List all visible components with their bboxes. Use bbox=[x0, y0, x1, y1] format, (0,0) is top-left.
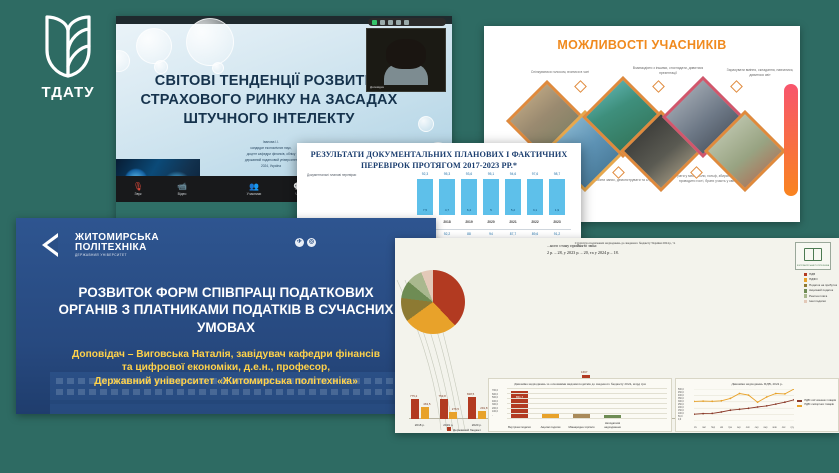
chart-bar: 98,71,92023 bbox=[549, 179, 565, 215]
chart-bars-row1: 92,37,5201795,34,7201893,66,4201995,1520… bbox=[417, 173, 565, 215]
zhp-speaker-info: Доповідач – Виговська Наталія, завідувач… bbox=[38, 348, 414, 388]
book-icon bbox=[804, 248, 822, 261]
meeting-window-controls[interactable] bbox=[368, 18, 446, 26]
budget-bar-pair: 753,8276,52019 р. bbox=[440, 399, 458, 419]
budget-bar-pair: 775,2463,52018 р. bbox=[411, 399, 429, 419]
record-indicator-icon bbox=[372, 20, 377, 25]
chart-bar: 93,66,42019 bbox=[461, 179, 477, 215]
tax-type-bar: 651,7Внутрішні податки bbox=[511, 391, 528, 419]
connector-node-icon bbox=[730, 80, 743, 93]
opportunities-title: МОЖЛИВОСТІ УЧАСНИКІВ bbox=[484, 38, 800, 52]
bar4-y-axis: 700,0600,0500,0400,0300,0200,0100,0- bbox=[492, 389, 498, 417]
pie-graphic bbox=[401, 270, 465, 334]
chart-bar: 95,152020 bbox=[483, 179, 499, 215]
camera-icon: 📹 bbox=[177, 183, 187, 191]
participant-face bbox=[393, 43, 419, 69]
close-icon[interactable] bbox=[404, 20, 409, 25]
gridline bbox=[507, 398, 667, 399]
bubble-decor-icon bbox=[116, 50, 130, 72]
budget-bar-pair: 828,5291,82020 р. bbox=[468, 397, 486, 419]
gridline bbox=[507, 413, 667, 414]
vat-line-chart: Динаміка надходжень ПДВ, 2024 р. 500,045… bbox=[675, 378, 839, 432]
bar4-bars: 651,7Внутрішні податки113,9Акцизні подат… bbox=[511, 391, 621, 419]
legend-line-import bbox=[797, 405, 802, 407]
participants-icon: 👥 bbox=[249, 183, 259, 191]
minimize-icon[interactable] bbox=[388, 20, 393, 25]
line-legend: ПДВ з вітчизняних товарів ПДВ з імпортни… bbox=[797, 399, 836, 408]
opportunity-caption: Спілкуватися голосом, вчитися в чаті bbox=[522, 70, 598, 75]
microphone-icon: 🎙 bbox=[133, 183, 143, 191]
connector-node-icon bbox=[612, 166, 625, 179]
instagram-icon[interactable]: ◎ bbox=[307, 238, 316, 247]
legend-swatch-state bbox=[447, 427, 451, 431]
zhp-title-slide[interactable]: ЖИТОМИРСЬКА ПОЛІТЕХНІКА ДЕРЖАВНИЙ УНІВЕР… bbox=[16, 218, 436, 414]
zhp-logo-line3: ДЕРЖАВНИЙ УНІВЕРСИТЕТ bbox=[75, 254, 159, 257]
gridline bbox=[507, 408, 667, 409]
chart-row1-label: Документальні планові перевірки bbox=[307, 173, 359, 178]
pie-title: Структура податкових надходжень до зведе… bbox=[395, 241, 839, 245]
legend-line-domestic bbox=[797, 400, 802, 402]
gridline bbox=[507, 418, 667, 419]
tdatu-logo-label: ТДАТУ bbox=[22, 84, 114, 101]
bubble-decor-icon bbox=[418, 116, 434, 132]
opportunity-caption: Зарахувати вміння, складання, навчатися,… bbox=[722, 68, 798, 78]
accent-gradient-bar bbox=[784, 84, 798, 196]
line-graphic bbox=[694, 389, 794, 421]
zhp-logo: ЖИТОМИРСЬКА ПОЛІТЕХНІКА ДЕРЖАВНИЙ УНІВЕР… bbox=[40, 232, 159, 258]
gridline bbox=[507, 403, 667, 404]
connector-node-icon bbox=[574, 80, 587, 93]
chart-bar: 94,65,22021 bbox=[505, 179, 521, 215]
tdatu-logo: ТДАТУ bbox=[22, 14, 114, 101]
opportunity-caption: Взаємодіяти з іншими, споглядати, дивити… bbox=[630, 66, 706, 76]
zhp-emblem-icon bbox=[40, 232, 70, 258]
zhp-social-icons[interactable]: ✈ ◎ bbox=[295, 238, 316, 247]
line-x-axis: січлютберквітрачерлипсервержовлисгру bbox=[694, 427, 794, 429]
toolbar-mute-button[interactable]: 🎙 Звук bbox=[116, 183, 160, 196]
chart-bar: 95,34,72018 bbox=[439, 179, 455, 215]
collage-stage: ТДАТУ СВІТОВІ ТЕНДЕНЦІЇ РОЗВИТКУ СТРАХОВ… bbox=[0, 0, 839, 473]
toolbar-participants-button[interactable]: 👥 Учасники bbox=[232, 183, 276, 196]
bar4-title: Динаміка надходжень за основними видами … bbox=[489, 382, 671, 387]
chart-title: РЕЗУЛЬТАТИ ДОКУМЕНТАЛЬНИХ ПЛАНОВИХ І ФАК… bbox=[297, 150, 581, 172]
tax-types-bar-chart: Динаміка надходжень за основними видами … bbox=[488, 378, 672, 432]
line-title: Динаміка надходжень ПДВ, 2024 р. bbox=[676, 382, 838, 387]
seal-caption: ЖИТОМИРСЬКА ПОЛІТЕХНІКА bbox=[796, 265, 830, 267]
participant-name-label: Доповідач bbox=[370, 85, 384, 89]
gridline bbox=[507, 388, 667, 389]
university-seal: ЖИТОМИРСЬКА ПОЛІТЕХНІКА bbox=[795, 242, 831, 270]
toolbar-video-button[interactable]: 📹 Відео bbox=[160, 183, 204, 196]
chart-bar: 92,37,52017 bbox=[417, 179, 433, 215]
fullscreen-icon[interactable] bbox=[396, 20, 401, 25]
zhp-slide-title: РОЗВИТОК ФОРМ СПІВПРАЦІ ПОДАТКОВИХ ОРГАН… bbox=[28, 284, 424, 336]
bubble-decor-icon bbox=[136, 28, 172, 64]
analytics-slide[interactable]: ...ного стану прийнято змін: 2 р. – 28, … bbox=[395, 238, 839, 433]
gridline bbox=[507, 393, 667, 394]
line-y-axis: 500,0450,0400,0350,0300,0250,0200,0150,0… bbox=[678, 389, 684, 422]
participant-video-tile[interactable]: Доповідач bbox=[366, 28, 446, 92]
connector-node-icon bbox=[652, 80, 665, 93]
chart-bar: 97,63,12022 bbox=[527, 179, 543, 215]
view-icon bbox=[380, 20, 385, 25]
bubble-decor-icon bbox=[186, 18, 234, 66]
pie-legend: ПДВПДФОПодаток на прибутокАкцизний подат… bbox=[804, 272, 837, 304]
pie-legend-item: Інші податки bbox=[804, 299, 837, 304]
telegram-icon[interactable]: ✈ bbox=[295, 238, 304, 247]
